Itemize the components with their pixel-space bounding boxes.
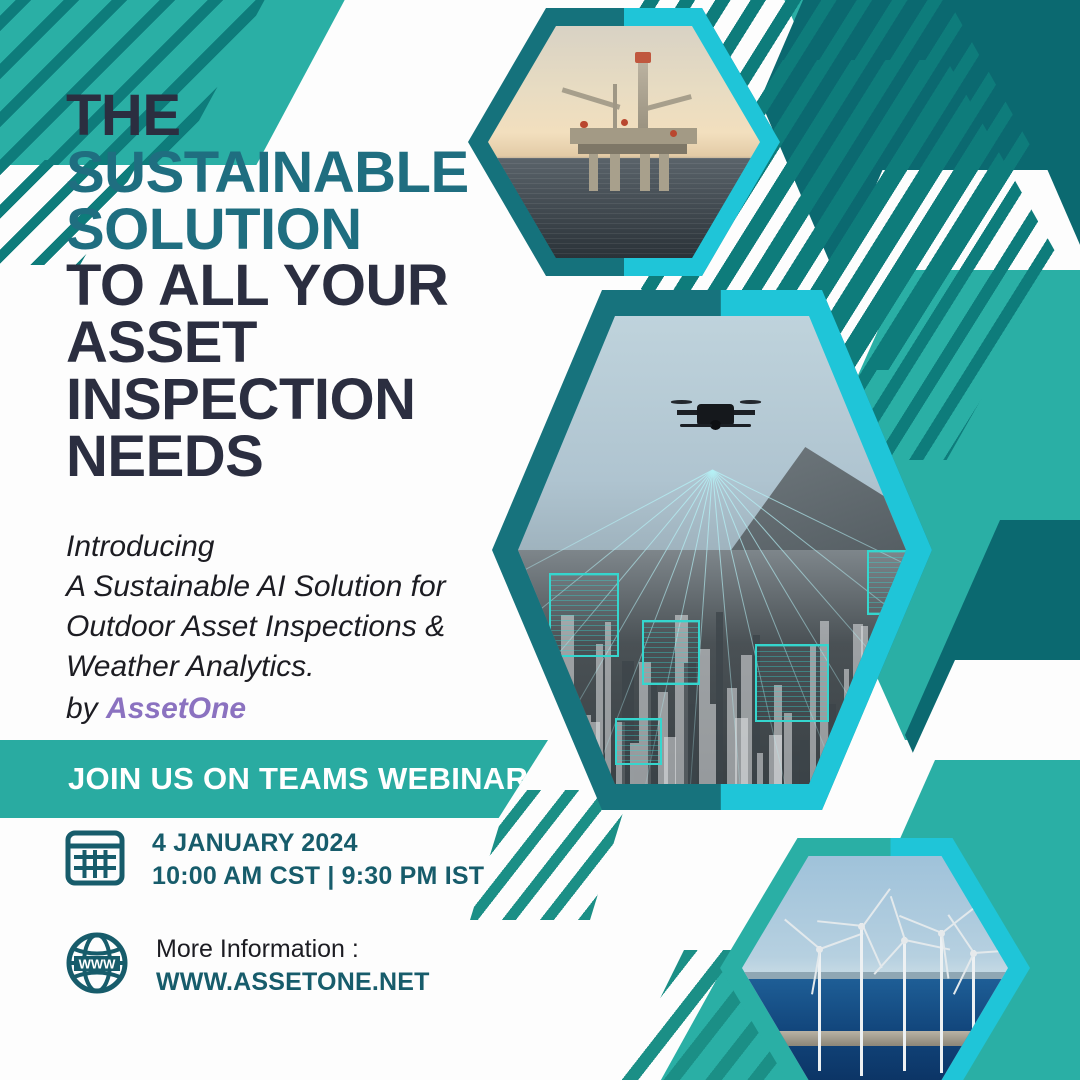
byline-prefix: by	[66, 692, 106, 725]
webinar-promo-poster: THE SUSTAINABLE SOLUTION TO ALL YOUR ASS…	[0, 0, 1080, 1080]
headline-line-6: INSPECTION	[66, 372, 496, 429]
headline-line-3: SOLUTION	[66, 202, 496, 259]
image-offshore-wind-turbines	[720, 838, 1030, 1080]
more-information-label: More Information :	[156, 933, 430, 966]
right-hexagon-teal-upper	[745, 0, 1080, 150]
event-date: 4 JANUARY 2024	[152, 827, 484, 860]
subheading-block: Introducing A Sustainable AI Solution fo…	[66, 527, 486, 728]
calendar-icon	[64, 826, 126, 893]
subheading-line-1: A Sustainable AI Solution for	[66, 567, 486, 607]
subheading-intro: Introducing	[66, 527, 486, 567]
subheading-line-2: Outdoor Asset Inspections &	[66, 607, 486, 647]
byline: by AssetOne	[66, 689, 486, 729]
image-drone-city-inspection	[492, 290, 932, 810]
image-offshore-oil-rig	[468, 8, 780, 276]
headline-line-4: TO ALL YOUR	[66, 258, 496, 315]
event-date-row: 4 JANUARY 2024 10:00 AM CST | 9:30 PM IS…	[64, 826, 484, 893]
headline-line-7: NEEDS	[66, 429, 496, 486]
headline-block: THE SUSTAINABLE SOLUTION TO ALL YOUR ASS…	[66, 88, 496, 486]
headline-line-5: ASSET	[66, 315, 496, 372]
globe-icon: WWW	[64, 930, 130, 1001]
subheading-line-3: Weather Analytics.	[66, 647, 486, 687]
headline-line-2: SUSTAINABLE	[66, 145, 496, 202]
webinar-banner-label: JOIN US ON TEAMS WEBINAR	[68, 761, 528, 797]
website-url: WWW.ASSETONE.NET	[156, 966, 430, 999]
globe-www-label: WWW	[79, 957, 117, 972]
drone-silhouette	[669, 391, 762, 438]
webinar-banner: JOIN US ON TEAMS WEBINAR	[0, 740, 548, 818]
brand-name: AssetOne	[106, 692, 246, 725]
event-time: 10:00 AM CST | 9:30 PM IST	[152, 860, 484, 893]
headline-line-1: THE	[66, 88, 496, 145]
website-row: WWW More Information : WWW.ASSETONE.NET	[64, 930, 430, 1001]
